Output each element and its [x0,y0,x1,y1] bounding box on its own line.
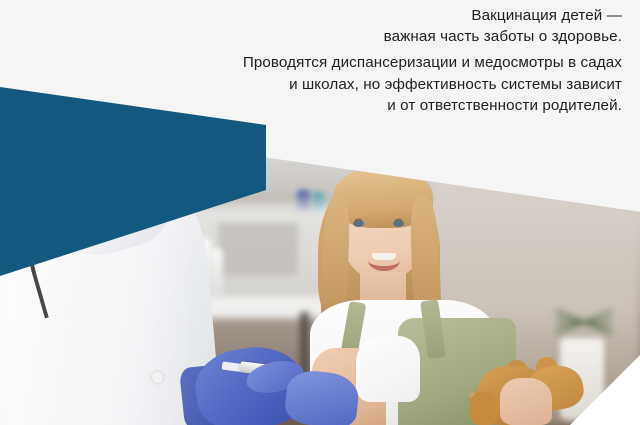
teddy-bear-limb [470,392,498,425]
subline: Проводятся диспансеризации и медосмотры … [162,52,622,117]
child-hand [500,378,552,425]
coat-button [152,372,163,383]
poster: Вакцинация детей — важная часть заботы о… [0,0,640,425]
child-teeth [372,253,396,260]
child-sleeve [356,336,420,402]
child-eye-left [353,220,364,227]
child-eye-right [393,220,404,227]
headline: Вакцинация детей — важная часть заботы о… [182,5,622,47]
bottle-b [210,248,223,296]
instrument-rack [218,222,298,276]
text-zone: Вакцинация детей — важная часть заботы о… [0,0,640,140]
